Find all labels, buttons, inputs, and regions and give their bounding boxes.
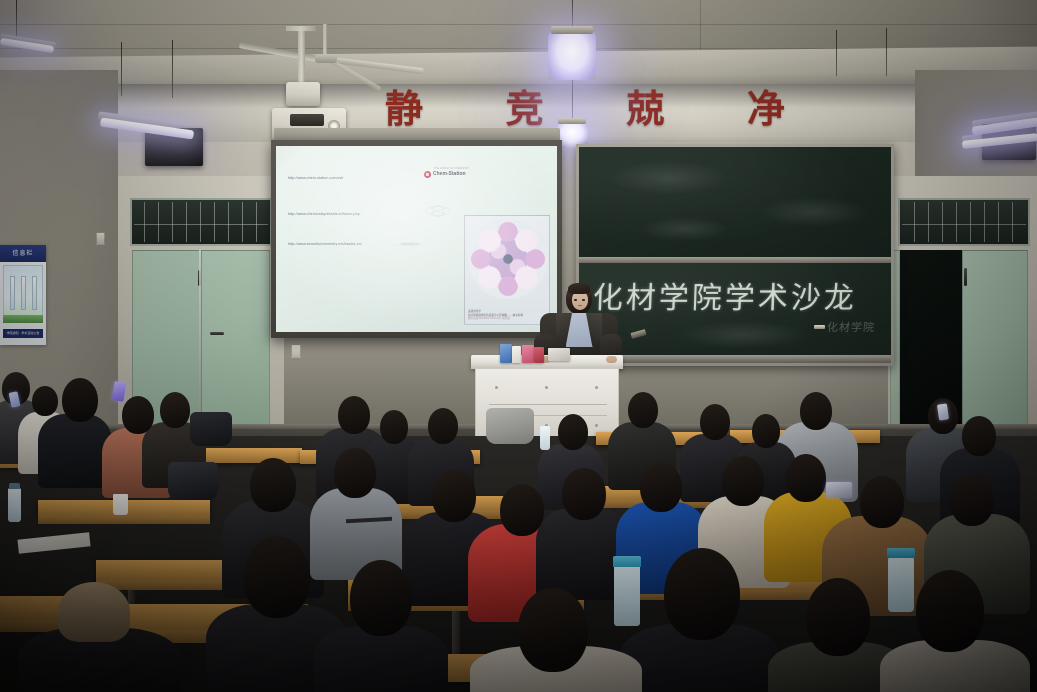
paper-cup[interactable] <box>113 494 128 515</box>
speaker-fringe <box>568 283 590 294</box>
notice-board-poster[interactable]: 信息栏 学院通知 · 学术活动公告 <box>0 245 46 345</box>
left-door[interactable] <box>118 176 284 428</box>
desk-leg <box>452 610 460 656</box>
lamp-cap <box>558 118 586 124</box>
speaker-eye-right <box>582 299 585 301</box>
handbag-gray[interactable] <box>486 408 534 444</box>
blackboard-faint-text: 化材学院 <box>826 319 875 335</box>
projection-screen-frame: http://www.chem-station.com/csl/ http://… <box>271 140 562 338</box>
water-bottle-clear-1[interactable] <box>540 426 550 450</box>
poster-footer: 学院通知 · 学术活动公告 <box>3 329 43 338</box>
phone-screen-right-a[interactable] <box>937 403 949 420</box>
light-cord <box>886 28 887 76</box>
right-door-transom <box>898 198 1030 246</box>
poster-grass-band <box>3 315 43 323</box>
right-door-opening <box>900 250 962 426</box>
blackboard-lower-panel: 化材学院学术沙龙 化材学院 <box>579 263 891 363</box>
chem-station-mark-icon <box>424 171 431 178</box>
podium-microphone-base[interactable] <box>548 348 570 361</box>
slide-url-3: http://www.beautifulchemistry.net/basics… <box>288 242 362 246</box>
poster-column <box>32 276 37 310</box>
ceiling-seam <box>0 24 1037 25</box>
right-door[interactable] <box>888 176 1037 428</box>
slogan-char-3: 兢 <box>626 78 664 133</box>
chem-station-tagline: THE LATEST IN CHEMISTRY <box>434 168 469 170</box>
chem-station-logo: Chem-Station <box>424 171 466 178</box>
classroom-photo: 静 竞 兢 净 http://www.chem-station.com/csl <box>0 0 1037 692</box>
chem-station-logo-text: Chem-Station <box>433 172 466 177</box>
slogan-char-1: 静 <box>385 78 423 133</box>
projection-screen: http://www.chem-station.com/csl/ http://… <box>276 146 557 332</box>
ceiling-fan-rod <box>323 24 327 56</box>
lamp-cord <box>572 80 573 122</box>
light-cord <box>121 42 122 96</box>
water-bottle-blue-2[interactable] <box>888 556 914 612</box>
left-door-transom <box>130 198 272 246</box>
blackboard-upper-panel <box>579 147 891 257</box>
desk-row4-left-edge <box>38 516 210 524</box>
transom-bars <box>902 202 1026 242</box>
pendant-lamp <box>548 32 596 80</box>
backpack-black-1[interactable] <box>190 412 232 446</box>
podium-box-white[interactable] <box>512 346 521 363</box>
slogan-char-4: 净 <box>747 78 785 133</box>
wall-switch-plate[interactable] <box>96 232 105 245</box>
left-door-center-rod <box>199 250 201 426</box>
right-door-leaf[interactable] <box>962 250 1028 426</box>
podium-box-blue[interactable] <box>500 344 512 363</box>
poster-column <box>10 276 15 310</box>
slide-url-2: http://www.chemicalsynthesis.in/forum.ph… <box>288 212 360 216</box>
water-bottle-blue-2-cap[interactable] <box>887 548 915 558</box>
molecule-structure-image <box>468 219 548 299</box>
chalk-tray <box>579 355 891 363</box>
blackboard-inner: 化材学院学术沙龙 化材学院 <box>579 147 891 363</box>
light-cord <box>172 40 173 98</box>
water-bottle-cap[interactable] <box>9 483 20 489</box>
transom-bars <box>134 202 268 242</box>
water-bottle-blue[interactable] <box>614 564 640 626</box>
projector-bracket-box <box>286 82 320 106</box>
slogan-char-2: 竞 <box>506 78 544 133</box>
left-door-leaf-b[interactable] <box>201 250 270 426</box>
light-cord <box>16 0 17 40</box>
chalk-eraser[interactable] <box>630 329 646 339</box>
blackboard-title-text: 化材学院学术沙龙 <box>592 273 858 317</box>
projector-mount-pole <box>298 28 305 86</box>
water-bottle-blue-cap[interactable] <box>613 556 641 567</box>
light-cord <box>836 30 837 76</box>
molecule-caption: 美丽的化学 用计算机模拟出的美丽分子结构图 ...... 纳米材料 图片来源:B… <box>468 310 548 321</box>
slide-url-1: http://www.chem-station.com/csl/ <box>288 176 344 180</box>
caption-line-3: 图片来源:Beautiful Chemistry 项目组 <box>468 317 548 321</box>
molecule-figure-card: 美丽的化学 用计算机模拟出的美丽分子结构图 ...... 纳米材料 图片来源:B… <box>464 215 550 325</box>
poster-column <box>21 276 26 310</box>
water-bottle-clear-2[interactable] <box>8 488 21 522</box>
left-door-latch[interactable] <box>210 332 224 335</box>
poster-header: 信息栏 <box>0 245 46 262</box>
camera-phone-right[interactable] <box>826 482 852 498</box>
backpack-black-2[interactable] <box>168 462 218 500</box>
speaker-eye-left <box>574 299 577 301</box>
podium-box-pink[interactable] <box>522 345 534 363</box>
slide-url-note: ... ...chemistry.cn <box>394 242 419 246</box>
ceiling-fan-hub <box>315 54 337 63</box>
lamp-cap <box>551 26 593 34</box>
chalk-stick[interactable] <box>814 325 825 329</box>
speaker-hand-right <box>606 356 617 363</box>
projector-top-panel <box>290 114 324 126</box>
blackboard: 化材学院学术沙龙 化材学院 <box>576 144 894 366</box>
right-door-handle[interactable] <box>964 268 967 286</box>
wall-outlet-plate[interactable] <box>291 344 301 358</box>
podium-box-red[interactable] <box>534 347 544 363</box>
molecule-sketch-icon <box>424 204 452 218</box>
projector-ceiling-plate <box>286 26 316 31</box>
